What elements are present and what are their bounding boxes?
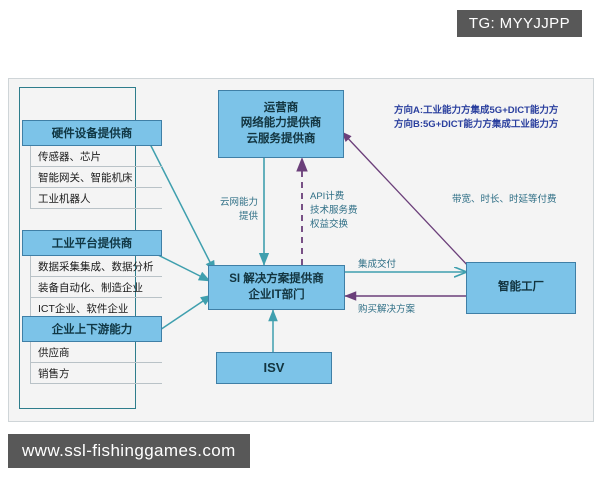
capability-group-upstream-downstream[interactable]: 企业上下游能力 供应商 销售方 [22, 316, 162, 384]
list-item: 工业机器人 [31, 188, 162, 209]
capability-items: 数据采集集成、数据分析 装备自动化、制造企业 ICT企业、软件企业 [30, 256, 162, 319]
label-api-fee-line1: API计费 [310, 190, 358, 204]
list-item: 数据采集集成、数据分析 [31, 256, 162, 277]
label-buy-solution: 购买解决方案 [358, 303, 415, 317]
node-operator[interactable]: 运营商 网络能力提供商 云服务提供商 [218, 90, 344, 158]
diagram-stage: TG: MYYJJPP [0, 0, 600, 480]
list-item: 传感器、芯片 [31, 146, 162, 167]
capability-title: 工业平台提供商 [22, 230, 162, 256]
node-si-line1: SI 解决方案提供商 [229, 272, 324, 288]
list-item: 装备自动化、制造企业 [31, 277, 162, 298]
list-item: 供应商 [31, 342, 162, 363]
label-integration-delivery: 集成交付 [358, 258, 396, 272]
list-item: 销售方 [31, 363, 162, 384]
label-bandwidth-fee: 带宽、时长、时延等付费 [452, 193, 557, 207]
node-smart-factory[interactable]: 智能工厂 [466, 262, 576, 314]
label-cloud-capability-line1: 云网能力 [196, 196, 258, 210]
label-cloud-capability: 云网能力 提供 [196, 196, 258, 224]
node-si-line2: 企业IT部门 [248, 288, 304, 304]
node-isv[interactable]: ISV [216, 352, 332, 384]
node-isv-label: ISV [264, 359, 285, 377]
bottom-watermark-site: www.ssl-fishinggames.com [8, 434, 250, 468]
note-direction-a: 方向A:工业能力方集成5G+DICT能力方 [394, 104, 558, 119]
node-operator-line1: 运营商 [264, 101, 299, 117]
label-api-fee-line3: 权益交换 [310, 218, 358, 232]
label-cloud-capability-line2: 提供 [196, 210, 258, 224]
capability-title: 企业上下游能力 [22, 316, 162, 342]
capability-items: 传感器、芯片 智能网关、智能机床 工业机器人 [30, 146, 162, 209]
label-api-fee-line2: 技术服务费 [310, 204, 358, 218]
node-si-solution-provider[interactable]: SI 解决方案提供商 企业IT部门 [208, 265, 345, 310]
capability-group-hardware[interactable]: 硬件设备提供商 传感器、芯片 智能网关、智能机床 工业机器人 [22, 120, 162, 209]
capability-group-platform[interactable]: 工业平台提供商 数据采集集成、数据分析 装备自动化、制造企业 ICT企业、软件企… [22, 230, 162, 319]
capability-title: 硬件设备提供商 [22, 120, 162, 146]
node-smart-factory-label: 智能工厂 [498, 280, 544, 296]
label-api-fees: API计费 技术服务费 权益交换 [310, 190, 358, 231]
node-operator-line2: 网络能力提供商 [241, 116, 322, 132]
list-item: 智能网关、智能机床 [31, 167, 162, 188]
capability-items: 供应商 销售方 [30, 342, 162, 384]
top-watermark-tag: TG: MYYJJPP [457, 10, 582, 37]
node-operator-line3: 云服务提供商 [247, 132, 316, 148]
note-direction-b: 方向B:5G+DICT能力方集成工业能力方 [394, 118, 558, 133]
